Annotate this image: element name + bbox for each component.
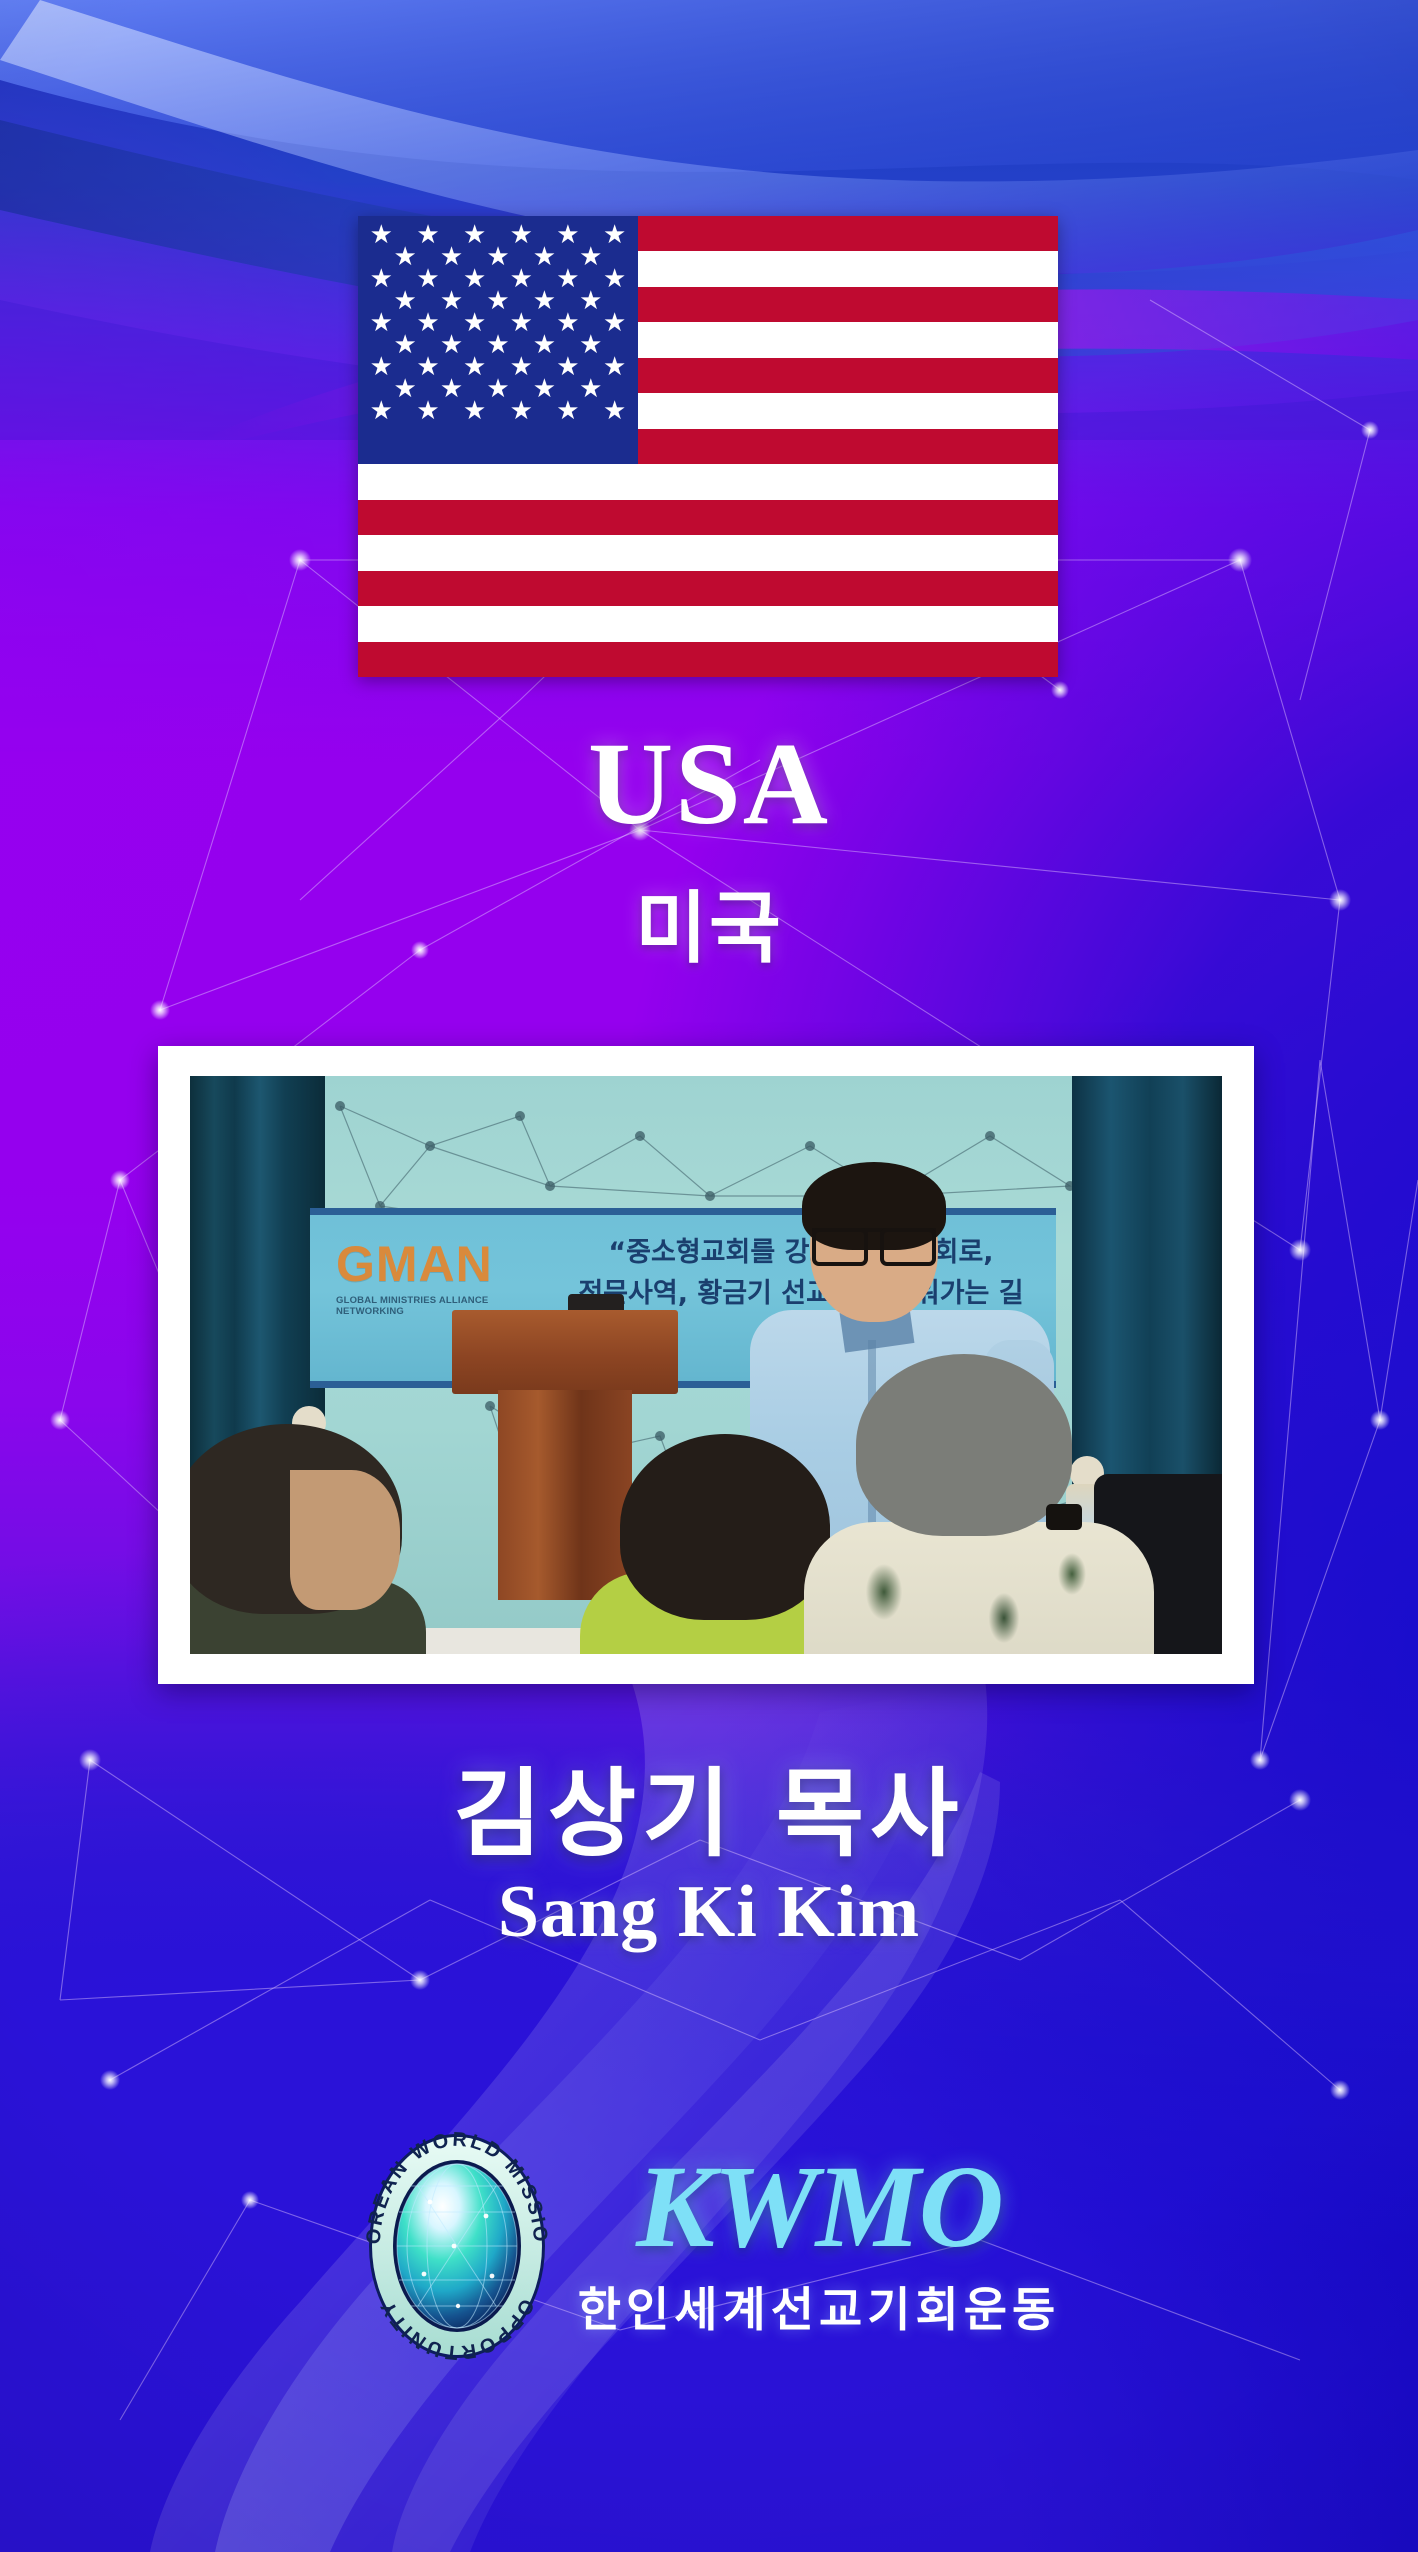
person-name-korean: 김상기 목사 bbox=[0, 1736, 1418, 1875]
photo-frame: GMAN GLOBAL MINISTRIES ALLIANCE NETWORKI… bbox=[158, 1046, 1254, 1684]
country-name-english: USA bbox=[0, 716, 1418, 852]
gman-logo: GMAN GLOBAL MINISTRIES ALLIANCE NETWORKI… bbox=[336, 1239, 546, 1317]
flag-canton: ★★★★★★ ★★★★★ ★★★★★★ ★★★★★ ★★★★★★ ★★★★★ ★… bbox=[358, 216, 638, 464]
kwmo-wordmark: KWMO 한인세계선교기회운동 bbox=[578, 2152, 1060, 2340]
poster-canvas: ★★★★★★ ★★★★★ ★★★★★★ ★★★★★ ★★★★★★ ★★★★★ ★… bbox=[0, 0, 1418, 2552]
kwmo-logo: KOREAN WORLD MISSION OPPORTUNITY KWMO 한인… bbox=[0, 2124, 1418, 2368]
person-name-english: Sang Ki Kim bbox=[0, 1870, 1418, 1955]
country-name-korean: 미국 bbox=[0, 866, 1418, 978]
kwmo-subtitle-korean: 한인세계선교기회운동 bbox=[578, 2271, 1060, 2340]
speaker-photo: GMAN GLOBAL MINISTRIES ALLIANCE NETWORKI… bbox=[190, 1076, 1222, 1654]
eyeglasses bbox=[812, 1228, 936, 1258]
photo-audience-member-1 bbox=[190, 1424, 422, 1654]
gman-logo-text: GMAN bbox=[336, 1239, 546, 1289]
kwmo-acronym: KWMO bbox=[636, 2152, 1002, 2263]
photo-audience-member-3 bbox=[810, 1354, 1140, 1654]
usa-flag: ★★★★★★ ★★★★★ ★★★★★★ ★★★★★ ★★★★★★ ★★★★★ ★… bbox=[358, 216, 1058, 677]
kwmo-globe-emblem: KOREAN WORLD MISSION OPPORTUNITY bbox=[358, 2124, 556, 2368]
